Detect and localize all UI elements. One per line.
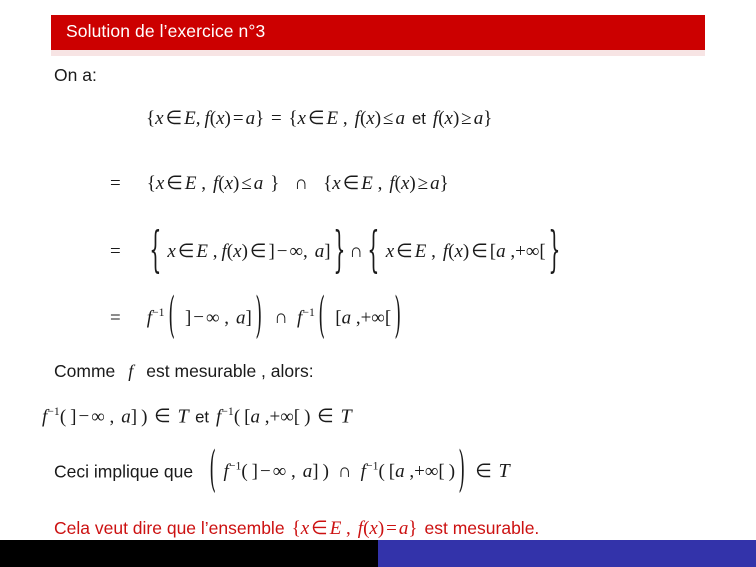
intro-label: On a: [54, 65, 97, 86]
conclusion-line: Cela veut dire que l’ensemble{x∈E ,f(x)=… [54, 517, 539, 540]
comme-prefix: Comme [54, 361, 115, 381]
ceci-label: Ceci implique que [54, 461, 193, 481]
equation-line-5: f−1(]−∞ ,a]) ∈ Tetf−1([a ,+∞[) ∈ T [42, 405, 351, 428]
function-symbol-f: f [128, 361, 133, 381]
equation-line-2: ={x∈E ,f(x)≤a}∩{x∈E ,f(x)≥a} [110, 172, 449, 195]
page-title: Solution de l’exercice n°3 [51, 15, 705, 50]
equation-line-1: {x∈E,f(x)=a} = {x∈E ,f(x)≤aetf(x)≥a} [146, 107, 492, 130]
slide-body: On a: {x∈E,f(x)=a} = {x∈E ,f(x)≤aetf(x)≥… [0, 50, 756, 540]
equation-line-4: =f−1(]−∞ ,a])∩f−1([a ,+∞[) [110, 306, 405, 329]
footer-bar-right [378, 540, 756, 567]
conclusion-prefix: Cela veut dire que l’ensemble [54, 518, 285, 538]
equation-line-3: ={x∈E ,f(x)∈]−∞,a]}∩{x∈E ,f(x)∈[a ,+∞[} [110, 238, 562, 263]
footer-bar-left [0, 540, 378, 567]
conclusion-suffix: est mesurable. [425, 518, 540, 538]
footer-bar [0, 540, 756, 567]
slide-canvas: Solution de l’exercice n°3 On a: {x∈E,f(… [0, 0, 756, 567]
comme-mesurable-line: Commefest mesurable , alors: [54, 361, 314, 382]
equation-line-6: Ceci implique que(f−1(]−∞ ,a])∩f−1([a ,+… [54, 460, 509, 483]
comme-suffix: est mesurable , alors: [146, 361, 313, 381]
